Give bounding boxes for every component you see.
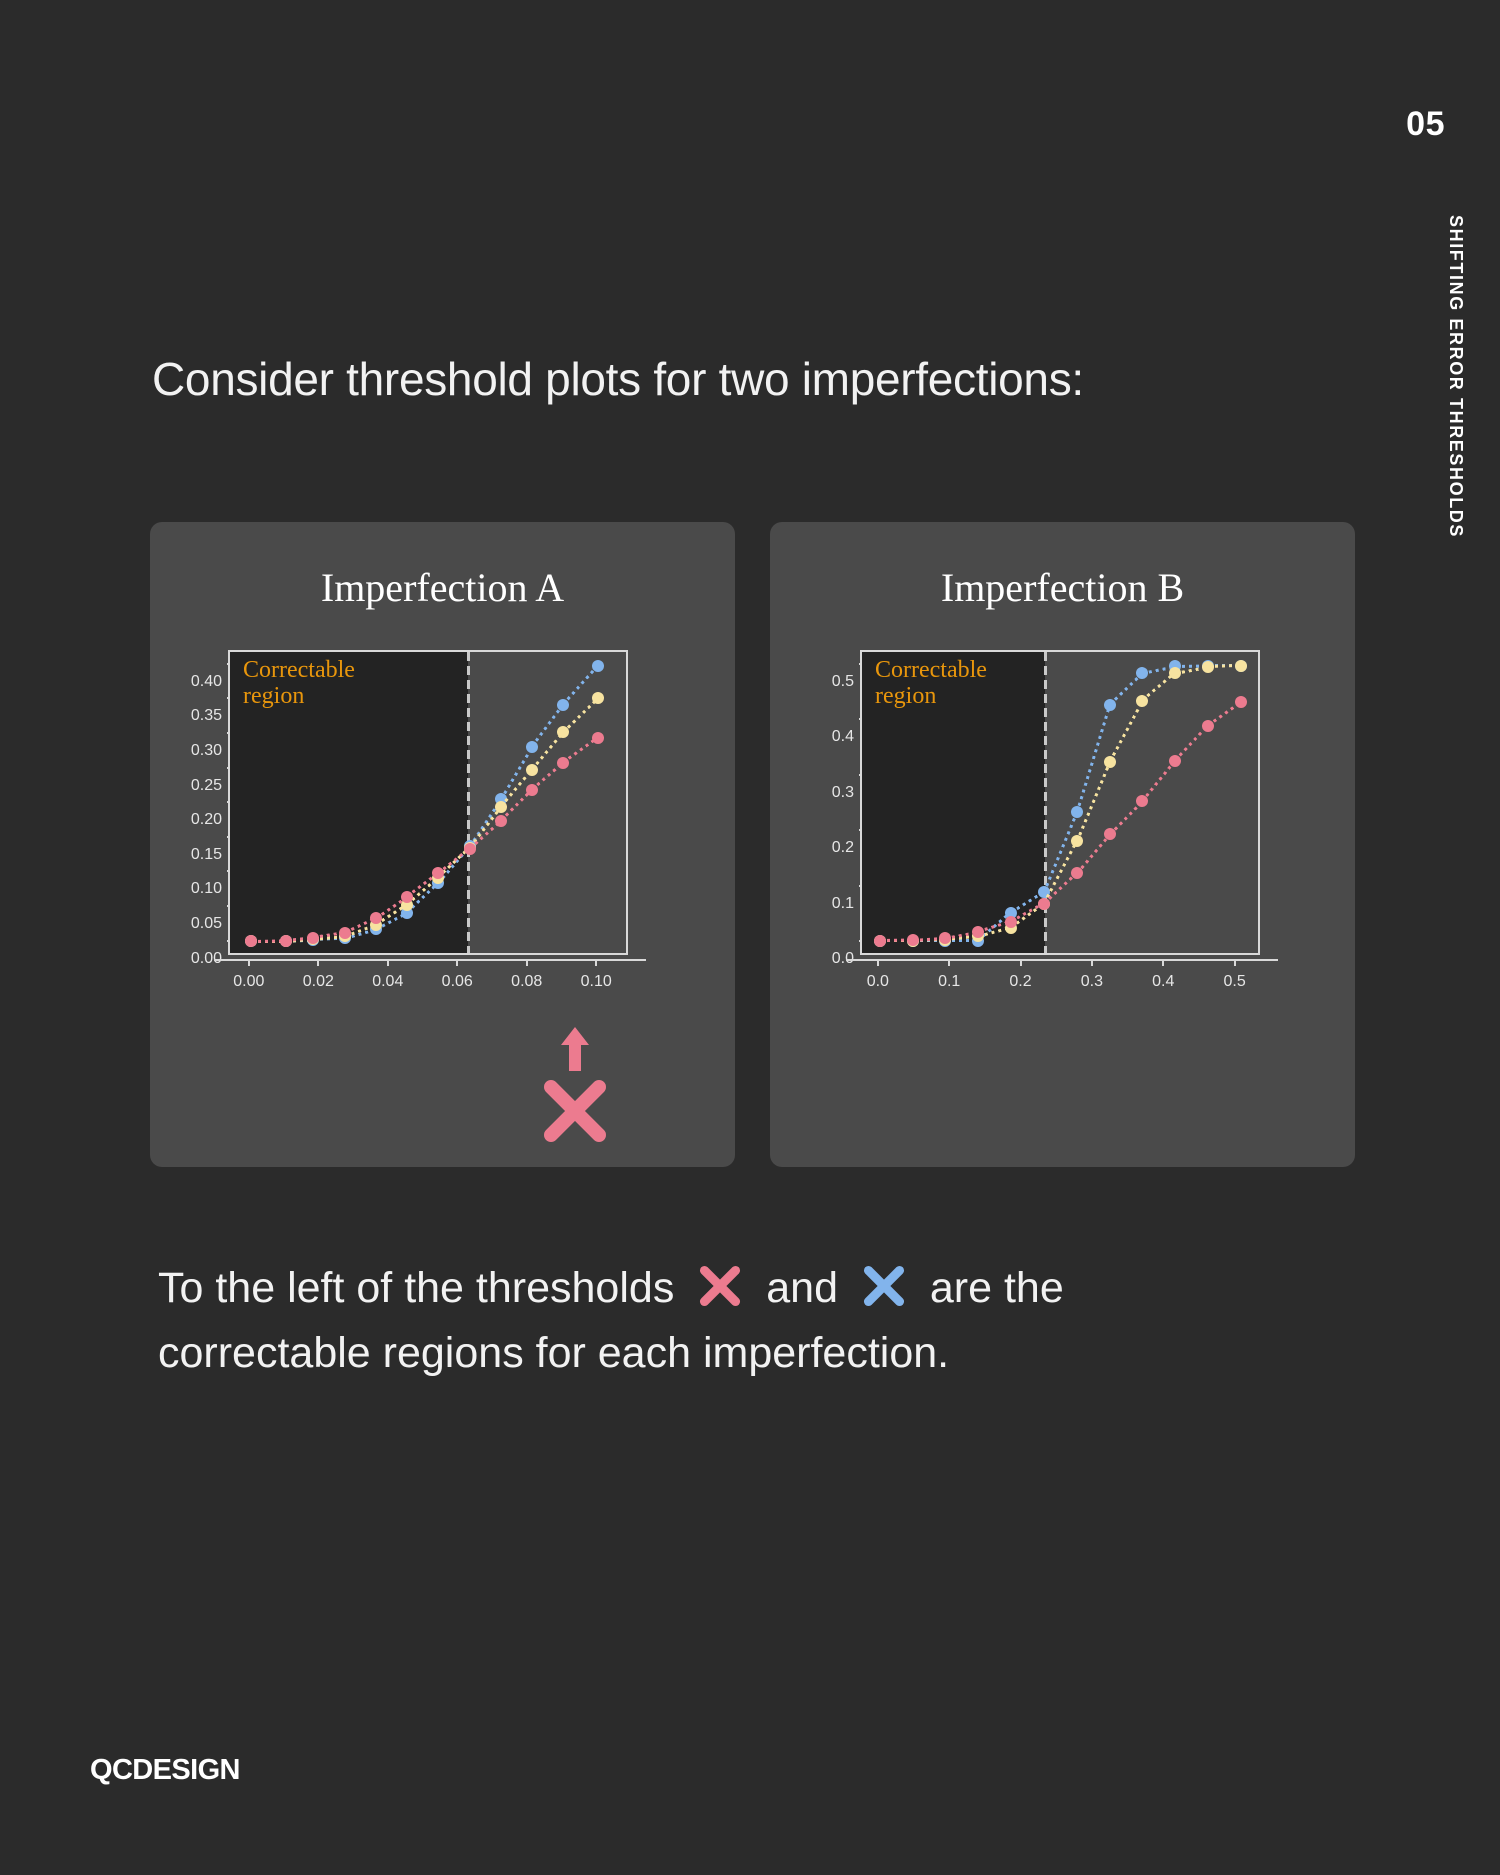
data-point-blue [1136, 667, 1148, 679]
data-point-blue [526, 741, 538, 753]
chart-title-b: Imperfection B [770, 564, 1355, 611]
data-point-pink [401, 891, 413, 903]
y-tick-label: 0.10 [191, 880, 222, 898]
x-tick-label: 0.1 [938, 973, 960, 991]
data-point-pink [907, 934, 919, 946]
up-arrow-icon [559, 1025, 591, 1073]
correctable-region-label-a: Correctable region [243, 658, 355, 710]
y-tick-label: 0.3 [832, 784, 854, 802]
data-point-pink [1136, 795, 1148, 807]
series-line-blue [531, 704, 565, 748]
x-axis-b: 0.00.10.20.30.40.5 [860, 959, 1260, 999]
data-point-blue [1071, 806, 1083, 818]
y-tick-label: 0.30 [191, 742, 222, 760]
threshold-line-a [467, 652, 470, 953]
data-point-pink [307, 932, 319, 944]
plot-b: 0.00.10.20.30.40.5 Correctable region 0.… [770, 632, 1355, 1032]
series-line-blue [1043, 812, 1079, 893]
y-tick-label: 0.35 [191, 707, 222, 725]
y-tick-label: 0.05 [191, 915, 222, 933]
x-axis-rule-b [846, 959, 1278, 961]
data-point-yellow [1235, 660, 1247, 672]
x-axis-a: 0.000.020.040.060.080.10 [228, 959, 628, 999]
x-tick-label: 0.08 [511, 973, 542, 991]
data-point-pink [339, 927, 351, 939]
data-point-blue [1104, 699, 1116, 711]
chart-card-imperfection-a: Imperfection A 0.000.050.100.150.200.250… [150, 522, 735, 1167]
data-point-yellow [1071, 835, 1083, 847]
x-mark-icon [698, 1264, 742, 1308]
caption-part2: and [766, 1264, 838, 1312]
y-tick-label: 0.15 [191, 846, 222, 864]
y-axis-b: 0.00.10.20.30.40.5 [800, 650, 854, 955]
x-tick-mark [948, 959, 950, 966]
x-tick-label: 0.04 [372, 973, 403, 991]
data-point-yellow [557, 726, 569, 738]
slide-number: 05 [1406, 105, 1445, 144]
threshold-marker-a [532, 1025, 618, 1145]
plot-area-a: Correctable region [228, 650, 628, 955]
data-point-pink [464, 843, 476, 855]
page-title: Consider threshold plots for two imperfe… [152, 352, 1084, 406]
x-axis-rule-a [214, 959, 646, 961]
chart-card-imperfection-b: Imperfection B 0.00.10.20.30.40.5 Correc… [770, 522, 1355, 1167]
x-tick-label: 0.0 [867, 973, 889, 991]
data-point-pink [370, 912, 382, 924]
y-tick-label: 0.5 [832, 673, 854, 691]
x-tick-mark [387, 959, 389, 966]
x-tick-mark [526, 959, 528, 966]
series-line-pink [1141, 760, 1176, 802]
data-point-pink [1005, 916, 1017, 928]
x-tick-mark [1234, 959, 1236, 966]
data-point-blue [557, 699, 569, 711]
data-point-pink [972, 926, 984, 938]
data-point-pink [874, 935, 886, 947]
x-tick-label: 0.3 [1081, 973, 1103, 991]
data-point-yellow [1169, 667, 1181, 679]
data-point-pink [557, 757, 569, 769]
plot-a: 0.000.050.100.150.200.250.300.350.40 Cor… [150, 632, 735, 1032]
x-tick-mark [1020, 959, 1022, 966]
y-tick-label: 0.25 [191, 777, 222, 795]
section-title: SHIFTING ERROR THRESHOLDS [1445, 215, 1466, 538]
data-point-pink [1071, 867, 1083, 879]
x-tick-mark [317, 959, 319, 966]
x-tick-mark [248, 959, 250, 966]
data-point-pink [1235, 696, 1247, 708]
data-point-pink [526, 784, 538, 796]
x-tick-label: 0.00 [233, 973, 264, 991]
y-tick-label: 0.20 [191, 811, 222, 829]
data-point-yellow [526, 764, 538, 776]
caption-part1: To the left of the thresholds [158, 1264, 674, 1312]
data-point-pink [1169, 755, 1181, 767]
x-mark-icon [541, 1077, 609, 1145]
x-tick-mark [1162, 959, 1164, 966]
x-tick-mark [595, 959, 597, 966]
data-point-pink [939, 932, 951, 944]
data-point-blue [592, 660, 604, 672]
x-tick-mark [1091, 959, 1093, 966]
y-tick-label: 0.1 [832, 895, 854, 913]
chart-title-a: Imperfection A [150, 564, 735, 611]
x-tick-label: 0.02 [303, 973, 334, 991]
data-point-pink [1202, 720, 1214, 732]
data-point-yellow [592, 692, 604, 704]
data-point-yellow [1136, 695, 1148, 707]
series-line-yellow [1108, 700, 1143, 762]
data-point-pink [495, 815, 507, 827]
correctable-region-label-b: Correctable region [875, 658, 987, 710]
data-point-pink [280, 935, 292, 947]
y-axis-a: 0.000.050.100.150.200.250.300.350.40 [164, 650, 222, 955]
chart-cards: Imperfection A 0.000.050.100.150.200.250… [150, 522, 1355, 1167]
y-tick-label: 0.4 [832, 728, 854, 746]
data-point-pink [1104, 828, 1116, 840]
caption-line2: correctable regions for each imperfectio… [158, 1321, 1358, 1386]
x-tick-label: 0.10 [581, 973, 612, 991]
x-tick-label: 0.06 [442, 973, 473, 991]
data-point-yellow [1104, 756, 1116, 768]
data-point-pink [245, 935, 257, 947]
caption: To the left of the thresholds and are th… [158, 1256, 1358, 1387]
x-tick-mark [877, 959, 879, 966]
x-tick-label: 0.5 [1223, 973, 1245, 991]
plot-area-b: Correctable region [860, 650, 1260, 955]
brand-logo: QCDESIGN [90, 1754, 240, 1787]
caption-part3: are the [930, 1264, 1064, 1312]
x-tick-mark [456, 959, 458, 966]
slide-root: 05 SHIFTING ERROR THRESHOLDS Consider th… [0, 0, 1500, 1875]
data-point-yellow [1202, 661, 1214, 673]
x-tick-label: 0.2 [1009, 973, 1031, 991]
data-point-pink [592, 732, 604, 744]
y-tick-label: 0.2 [832, 839, 854, 857]
x-tick-label: 0.4 [1152, 973, 1174, 991]
x-mark-icon [862, 1264, 906, 1308]
data-point-yellow [495, 801, 507, 813]
data-point-pink [1038, 898, 1050, 910]
y-tick-label: 0.40 [191, 673, 222, 691]
data-point-pink [432, 867, 444, 879]
